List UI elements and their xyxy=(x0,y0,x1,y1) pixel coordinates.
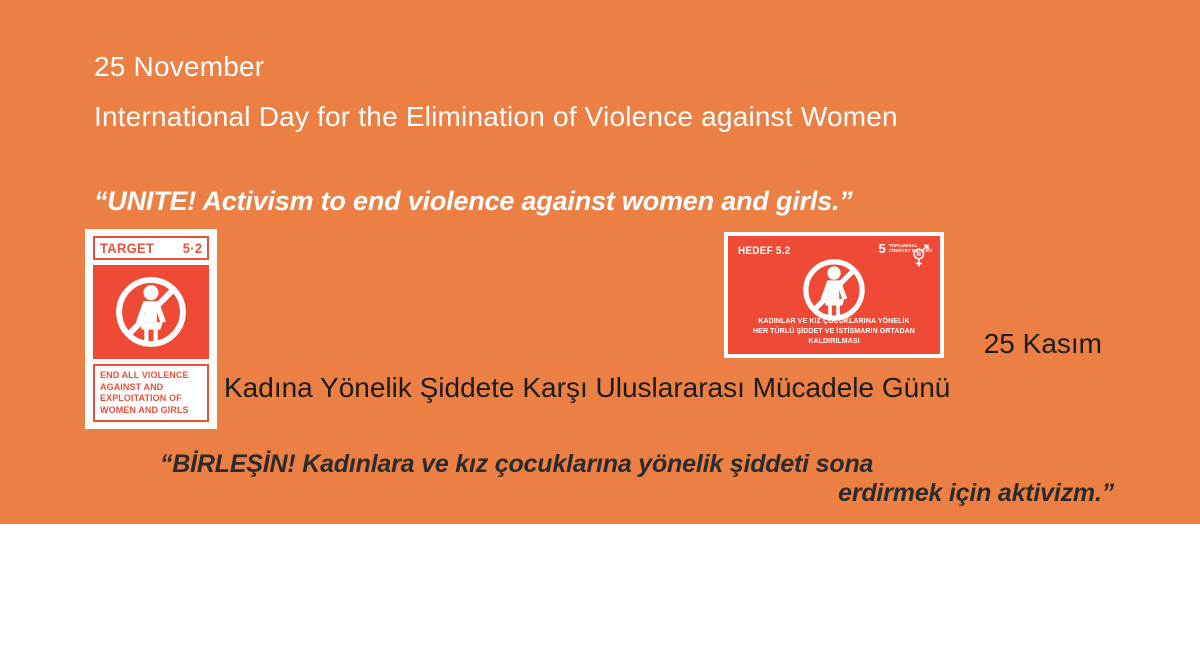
turkish-quote-line-2: erdirmek için aktivizm.” xyxy=(160,479,1120,508)
hedef-gender-equality-icon-wrap xyxy=(908,243,932,269)
turkish-quote: “BİRLEŞİN! Kadınlara ve kız çocuklarına … xyxy=(160,450,1120,508)
target-caption-line: AGAINST AND xyxy=(100,382,202,394)
turkish-date: 25 Kasım xyxy=(984,328,1102,360)
hedef-inner-panel: HEDEF 5.2 5 TOPLUMSAL CİNSİYET EŞİTLİĞİ xyxy=(728,236,940,354)
hedef-caption-line-1: KADINLAR VE KIZ ÇOCUKLARINA YÖNELİK xyxy=(728,317,940,327)
target-caption-line: WOMEN AND GIRLS xyxy=(100,405,202,417)
target-label: TARGET xyxy=(100,240,154,256)
gender-equality-icon xyxy=(908,243,932,269)
poster-canvas: 25 November International Day for the El… xyxy=(0,0,1200,660)
target-number: 5·2 xyxy=(182,240,202,256)
footer-bar: 1979 Eastern Mediterranean University xyxy=(0,524,1200,660)
hedef-caption-line-2: HER TÜRLÜ ŞİDDET VE İSTİSMARIN ORTADAN K… xyxy=(728,327,940,347)
turkish-quote-line-1: “BİRLEŞİN! Kadınlara ve kız çocuklarına … xyxy=(160,450,1120,479)
english-title: International Day for the Elimination of… xyxy=(94,98,898,136)
english-heading-block: 25 November International Day for the El… xyxy=(94,48,898,136)
turkish-title: Kadına Yönelik Şiddete Karşı Uluslararas… xyxy=(224,372,950,404)
target-5-2-poster: TARGET 5·2 END ALL VIOLENCE AGAINST AND … xyxy=(85,229,217,429)
target-header: TARGET 5·2 xyxy=(93,236,209,260)
target-caption: END ALL VIOLENCE AGAINST AND EXPLOITATIO… xyxy=(93,364,209,422)
hedef-5-2-poster: HEDEF 5.2 5 TOPLUMSAL CİNSİYET EŞİTLİĞİ xyxy=(724,232,944,358)
target-caption-line: END ALL VIOLENCE xyxy=(100,370,202,382)
no-violence-against-women-icon xyxy=(109,270,193,354)
target-icon-area xyxy=(93,265,209,359)
hedef-title: HEDEF 5.2 xyxy=(738,245,791,257)
hedef-caption: KADINLAR VE KIZ ÇOCUKLARINA YÖNELİK HER … xyxy=(728,317,940,347)
hedef-sdg-number: 5 xyxy=(878,243,885,255)
english-date: 25 November xyxy=(94,48,898,86)
english-quote: “UNITE! Activism to end violence against… xyxy=(94,186,853,217)
target-caption-line: EXPLOITATION OF xyxy=(100,393,202,405)
no-violence-against-women-icon xyxy=(797,253,871,327)
